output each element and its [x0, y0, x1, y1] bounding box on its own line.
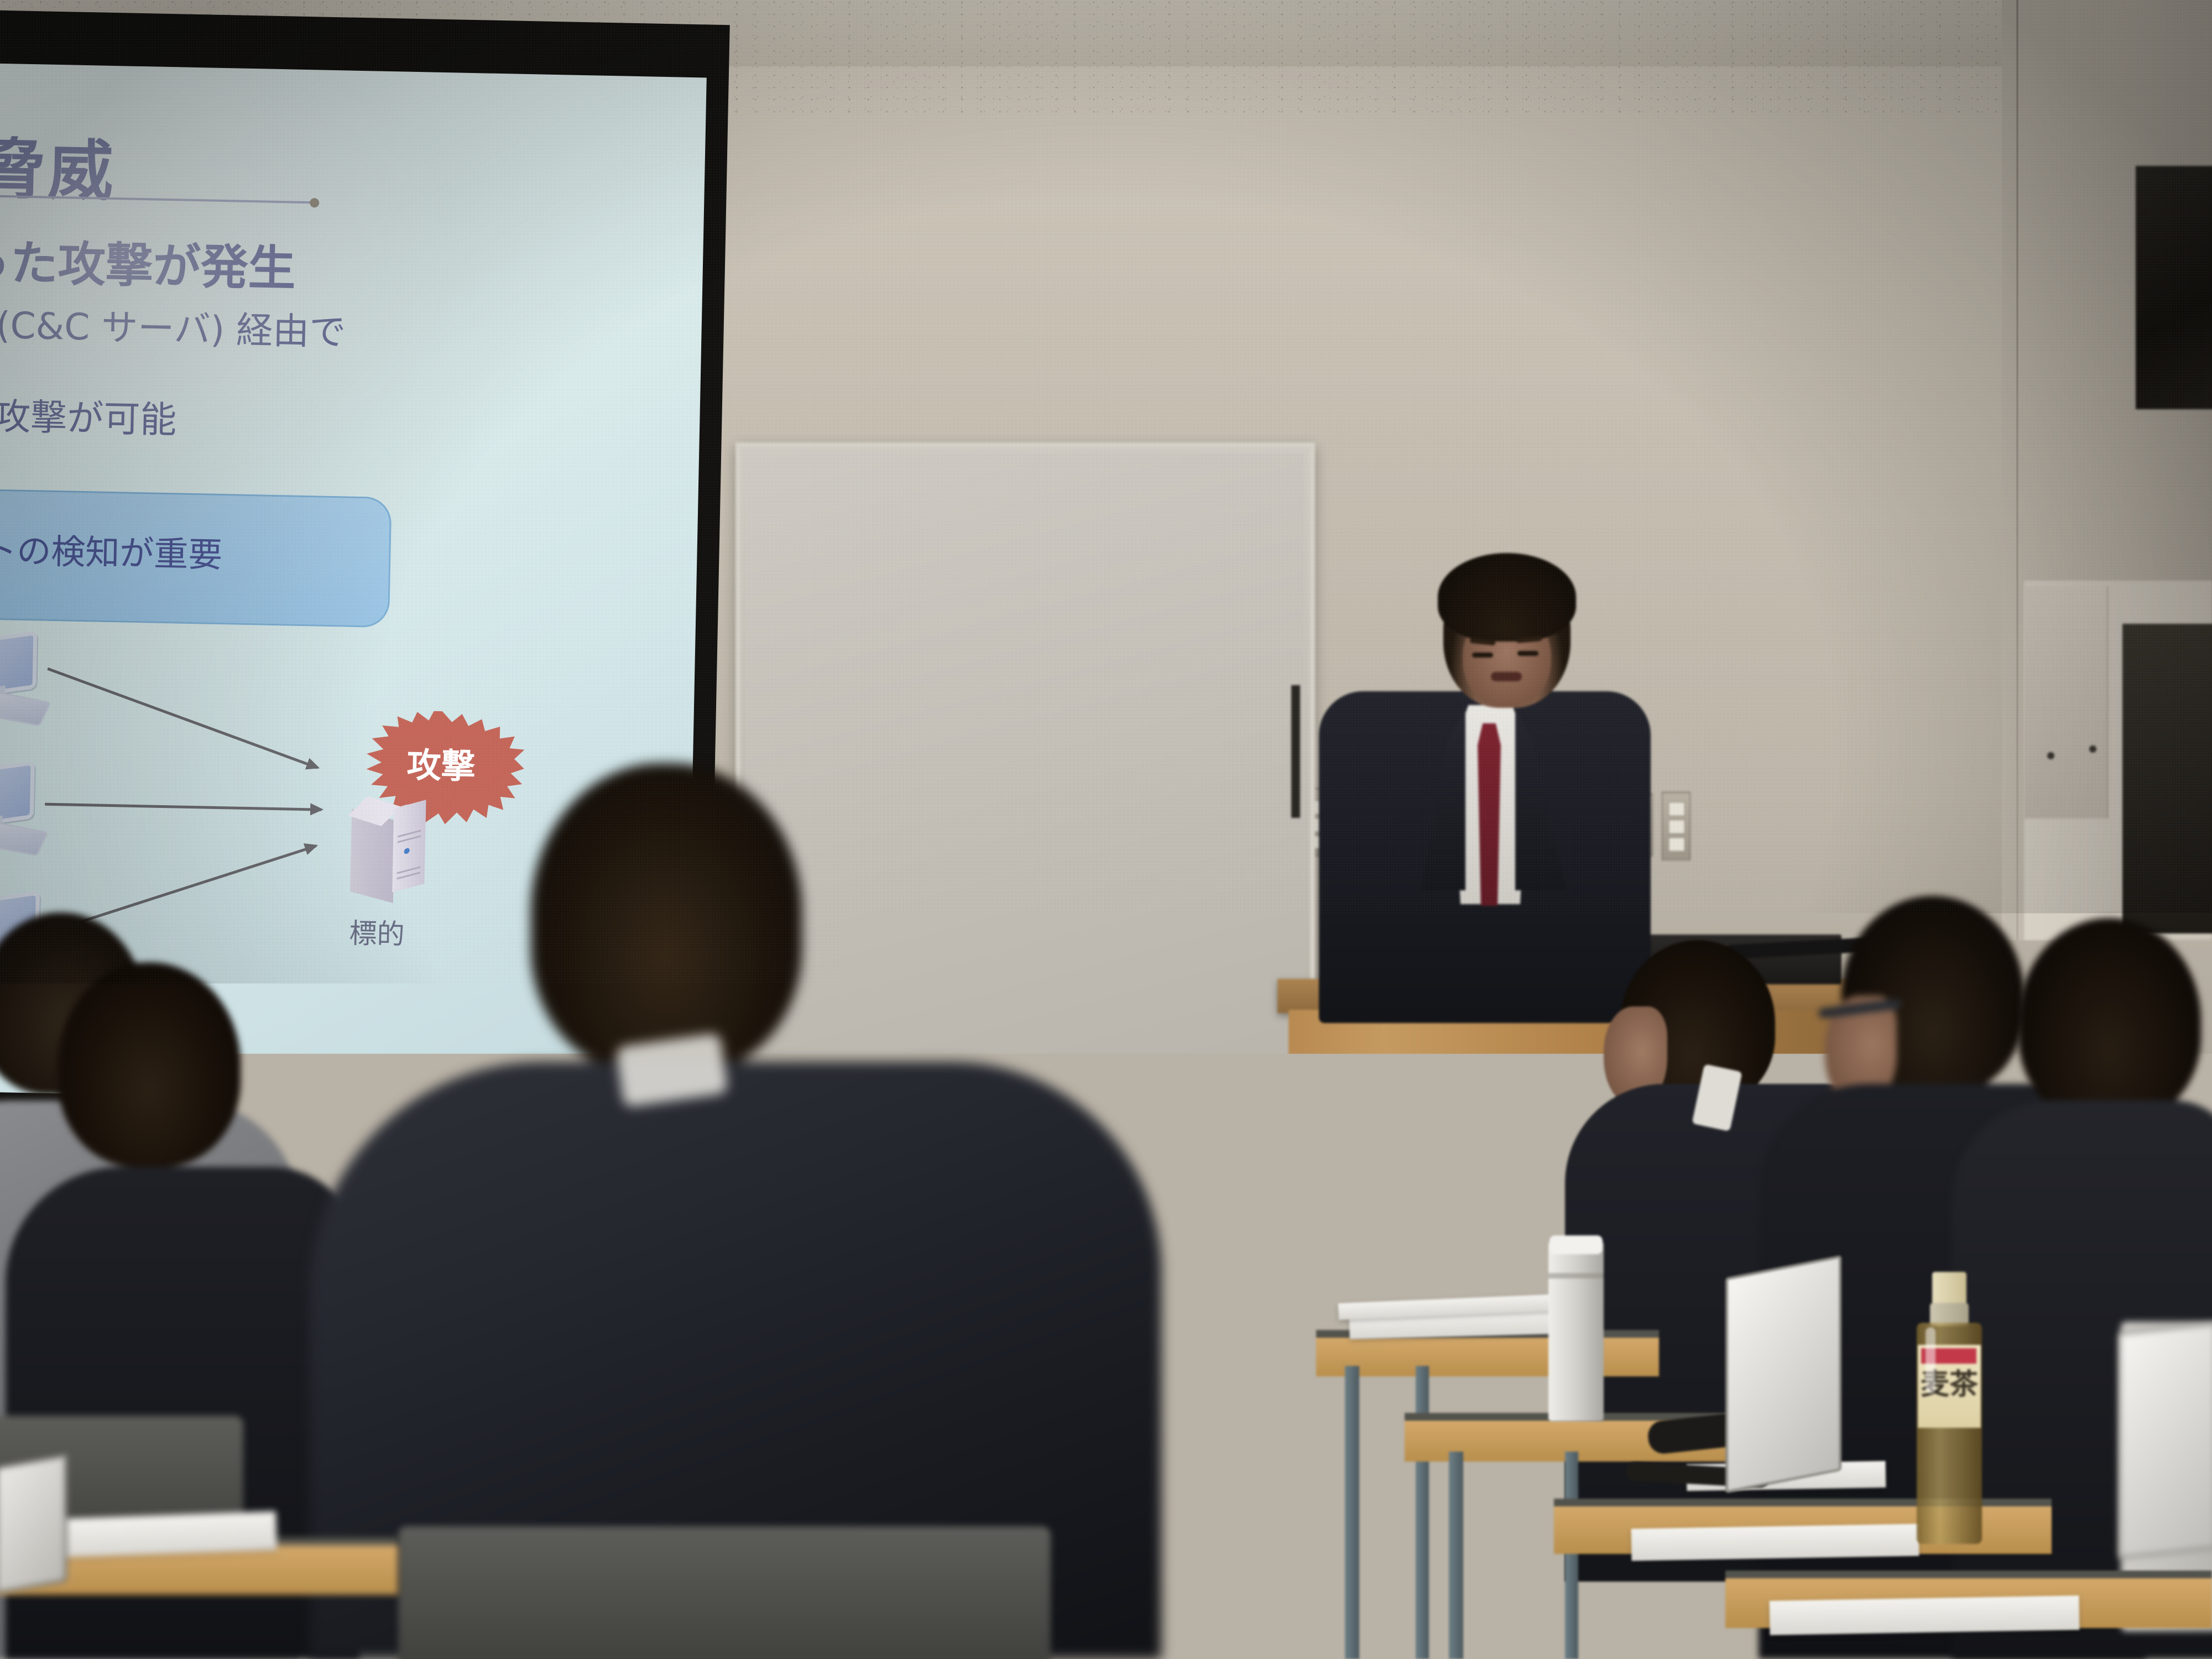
bottle-highlight — [1926, 1327, 1936, 1394]
speaker-eye — [1517, 651, 1538, 656]
speaker-eye — [1472, 653, 1493, 658]
tea-bottle[interactable]: 麦茶 — [1911, 1272, 1987, 1548]
whiteboard-surface — [746, 453, 1305, 1121]
ceiling-recess — [2136, 166, 2212, 409]
paper-sheet — [1770, 1595, 2080, 1635]
bot-icon — [0, 634, 37, 742]
whiteboard-magnet-strip — [1291, 685, 1300, 818]
attack-burst-label: 攻撃 — [358, 736, 525, 789]
target-label: 標的 — [349, 911, 405, 952]
light-switch-plate[interactable] — [1662, 792, 1691, 860]
flow-arrow — [45, 803, 321, 811]
panel-screw-icon — [2089, 745, 2096, 753]
door-recess — [2122, 624, 2212, 933]
paper-sheet — [1631, 1524, 1919, 1561]
desk-leg — [1565, 1452, 1578, 1659]
panel-screw-icon — [2047, 752, 2054, 759]
wall-seam — [2016, 0, 2018, 940]
speaker-hair — [1438, 553, 1576, 641]
audience-head — [531, 763, 802, 1073]
flow-arrow — [47, 667, 318, 769]
speaker-tie — [1478, 723, 1501, 906]
slide-bullet-1: を使った攻撃が発生 — [0, 221, 296, 299]
thermos-flask[interactable] — [1548, 1239, 1604, 1421]
speaker-mouth — [1491, 672, 1522, 681]
target-server-icon — [350, 801, 430, 905]
wall-outlet[interactable] — [1183, 1349, 1269, 1412]
wall-panel — [2024, 586, 2108, 818]
audience-head — [58, 962, 241, 1167]
slide-bullet-2: ルサーバ (C&C サーバ) 経由で — [0, 293, 346, 356]
audience-head — [2018, 918, 2201, 1123]
paper-sheet — [44, 1511, 277, 1558]
paper-sheet — [984, 1568, 1217, 1605]
slide-callout-text: にはボットの検知が重要 — [0, 519, 223, 577]
bottle-cap — [1932, 1272, 1966, 1305]
laptop[interactable] — [0, 1453, 67, 1594]
thermos-lid — [1550, 1235, 1603, 1254]
thermos-ring — [1548, 1273, 1604, 1279]
bot-icon — [0, 764, 35, 872]
desk-leg — [1449, 1452, 1463, 1659]
whiteboard-eraser[interactable] — [1128, 1099, 1208, 1123]
slide-bullet-3: 大規模な攻撃が可能 — [0, 384, 177, 444]
photograph-scene: よる脅威 を使った攻撃が発生 ルサーバ (C&C サーバ) 経由で 大規模な攻撃… — [0, 0, 2212, 1659]
whiteboard — [735, 442, 1315, 1138]
